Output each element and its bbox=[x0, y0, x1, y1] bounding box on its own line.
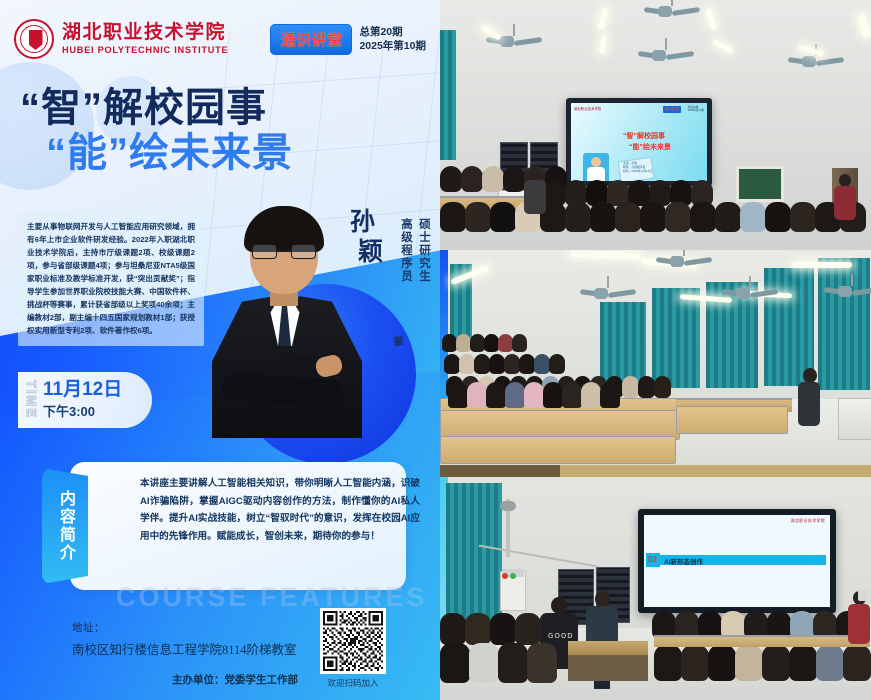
qr-section: 欢迎扫码加入 bbox=[320, 608, 386, 689]
speaker-bio: 主要从事物联网开发与人工智能应用研究领域，拥有6年上市企业软件研发经验。2022… bbox=[18, 212, 204, 346]
issue-total: 总第20期 bbox=[359, 25, 426, 39]
photo-audience-seated bbox=[440, 250, 871, 465]
series-badge: 通识讲堂 bbox=[270, 24, 352, 55]
qr-code-icon[interactable] bbox=[320, 608, 386, 674]
speaker-titles: 高级程序员 硕士研究生 bbox=[398, 218, 432, 283]
photo-column: 湖北职业技术学院 通识讲堂 总第20期2025年第10期 “智”解校园事 “能”… bbox=[440, 0, 871, 700]
address-label: 地址： bbox=[72, 620, 297, 639]
university-seal-icon bbox=[14, 19, 54, 59]
series-badge-group: 通识讲堂 总第20期 2025年第10期 bbox=[270, 24, 426, 55]
poster-header: 湖北职业技术学院 HUBEI POLYTECHNIC INSTITUTE 通识讲… bbox=[0, 0, 440, 78]
glasses-icon bbox=[252, 244, 316, 259]
issue-info: 总第20期 2025年第10期 bbox=[359, 25, 426, 53]
speaker-title-2: 高级程序员 bbox=[398, 218, 414, 283]
poster-screenshot: 湖北职业技术学院 HUBEI POLYTECHNIC INSTITUTE 通识讲… bbox=[0, 0, 871, 700]
speaker-title-1: 硕士研究生 bbox=[416, 218, 432, 283]
speaker-name-char-2: 颖 bbox=[358, 238, 384, 268]
content-intro-tab-label: 内容简介 bbox=[53, 490, 77, 562]
title-line-2: “能”绘未来景 bbox=[46, 131, 420, 176]
content-intro-card: 本讲座主要讲解人工智能相关知识，带你明晰人工智能内涵，识破 AI诈骗陷阱，掌握A… bbox=[70, 462, 406, 590]
address-value: 南校区知行楼信息工程学院8114阶梯教室 bbox=[72, 639, 297, 662]
issue-year: 2025年第10期 bbox=[359, 39, 426, 53]
content-intro-tab: 内容简介 bbox=[42, 468, 88, 584]
venue-address: 地址： 南校区知行楼信息工程学院8114阶梯教室 bbox=[72, 620, 297, 661]
institution-name-cn: 湖北职业技术学院 bbox=[62, 23, 228, 43]
event-poster: 湖北职业技术学院 HUBEI POLYTECHNIC INSTITUTE 通识讲… bbox=[0, 0, 440, 700]
photo-speaker-with-slide: 湖北职业技术学院 02 AI新形态创作 GOOD bbox=[440, 465, 871, 700]
event-clock: 下午3:00 bbox=[43, 401, 122, 420]
institution-logo: 湖北职业技术学院 HUBEI POLYTECHNIC INSTITUTE bbox=[14, 19, 228, 59]
slide-heading: AI新形态创作 bbox=[664, 556, 703, 566]
institution-name-en: HUBEI POLYTECHNIC INSTITUTE bbox=[62, 45, 228, 55]
slide-number: 02 bbox=[648, 555, 657, 564]
page-title: “智”解校园事 “能”绘未来景 bbox=[20, 86, 420, 176]
event-date: 11月12日 bbox=[43, 380, 122, 401]
content-intro: 本讲座主要讲解人工智能相关知识，带你明晰人工智能内涵，识破 AI诈骗陷阱，掌握A… bbox=[42, 462, 406, 590]
slide-logo: 湖北职业技术学院 bbox=[791, 518, 825, 524]
speaker-name: 孙 颖 bbox=[342, 208, 384, 267]
host-organization: 主办单位：党委学生工作部 bbox=[172, 672, 298, 687]
speaker-name-char-1: 孙 bbox=[342, 208, 384, 238]
qr-caption: 欢迎扫码加入 bbox=[320, 677, 386, 689]
time-label: TIME bbox=[24, 380, 39, 419]
event-time: TIME 11月12日 下午3:00 bbox=[18, 372, 152, 428]
decorative-character: 掌 bbox=[389, 336, 404, 346]
content-intro-body: 本讲座主要讲解人工智能相关知识，带你明晰人工智能内涵，识破 AI诈骗陷阱，掌握A… bbox=[140, 475, 420, 546]
photo-lecture-hall-wide: 湖北职业技术学院 通识讲堂 总第20期2025年第10期 “智”解校园事 “能”… bbox=[440, 0, 871, 250]
title-line-1: “智”解校园事 bbox=[20, 86, 420, 131]
